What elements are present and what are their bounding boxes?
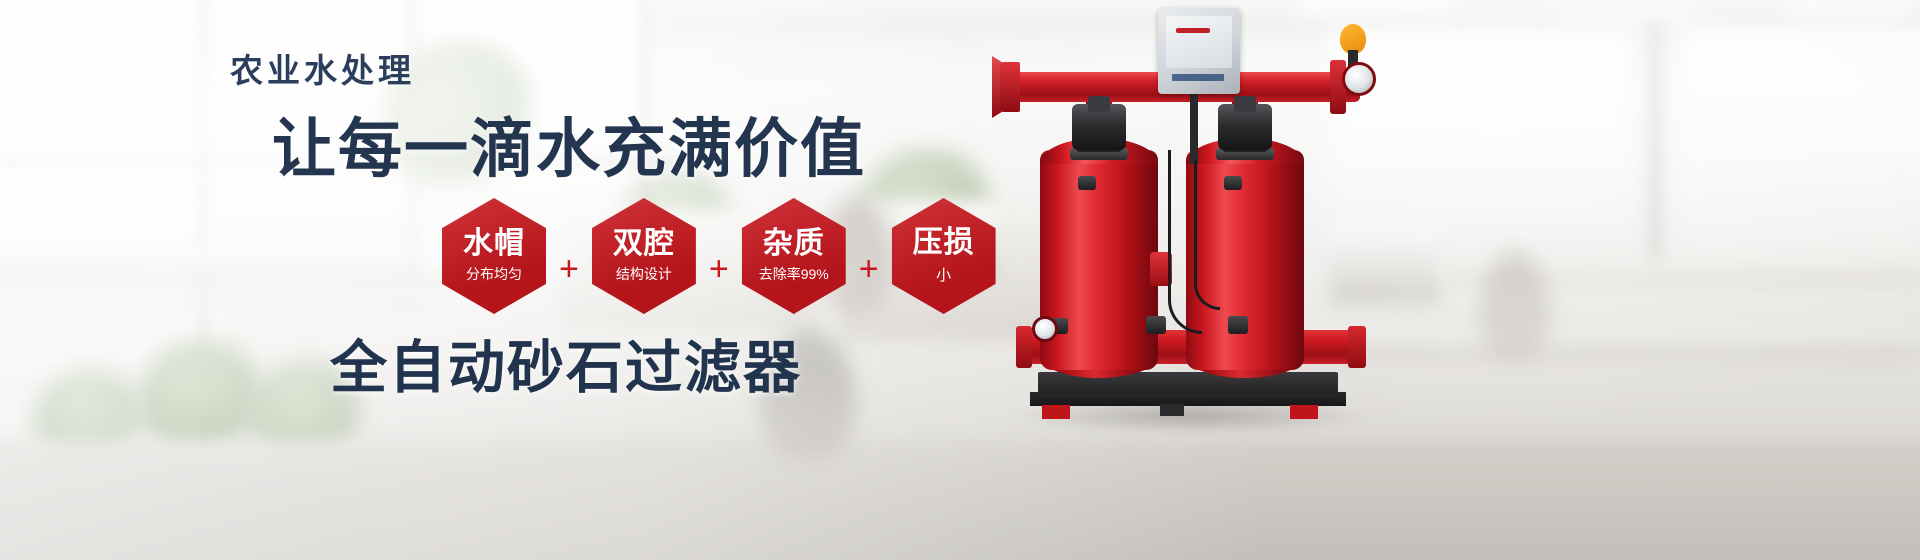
plus-separator-icon: +	[859, 226, 879, 286]
banner-eyebrow: 农业水处理	[230, 44, 415, 92]
plus-separator-icon: +	[559, 226, 579, 286]
feature-badge-4: 压损 小	[892, 198, 996, 314]
badge-subtitle: 分布均匀	[466, 264, 522, 284]
feature-badge-row: 水帽 分布均匀 + 双腔 结构设计 + 杂质 去除率99% + 压损 小	[436, 198, 1002, 314]
badge-title: 双腔	[613, 228, 675, 260]
badge-subtitle: 小	[936, 264, 951, 285]
feature-badge-1: 水帽 分布均匀	[442, 198, 546, 314]
badge-title: 杂质	[763, 228, 825, 260]
badge-title: 水帽	[463, 228, 525, 260]
banner-subheadline: 全自动砂石过滤器	[330, 322, 802, 404]
banner-content: 农业水处理 让每一滴水充满价值 水帽 分布均匀 + 双腔 结构设计 + 杂质 去…	[0, 0, 1920, 560]
badge-subtitle: 去除率99%	[759, 264, 829, 284]
banner-headline: 让每一滴水充满价值	[272, 98, 866, 190]
feature-badge-2: 双腔 结构设计	[592, 198, 696, 314]
plus-separator-icon: +	[709, 226, 729, 286]
badge-title: 压损	[913, 227, 975, 259]
badge-subtitle: 结构设计	[616, 264, 672, 284]
promo-banner: 农业水处理 让每一滴水充满价值 水帽 分布均匀 + 双腔 结构设计 + 杂质 去…	[0, 0, 1920, 560]
feature-badge-3: 杂质 去除率99%	[742, 198, 846, 314]
